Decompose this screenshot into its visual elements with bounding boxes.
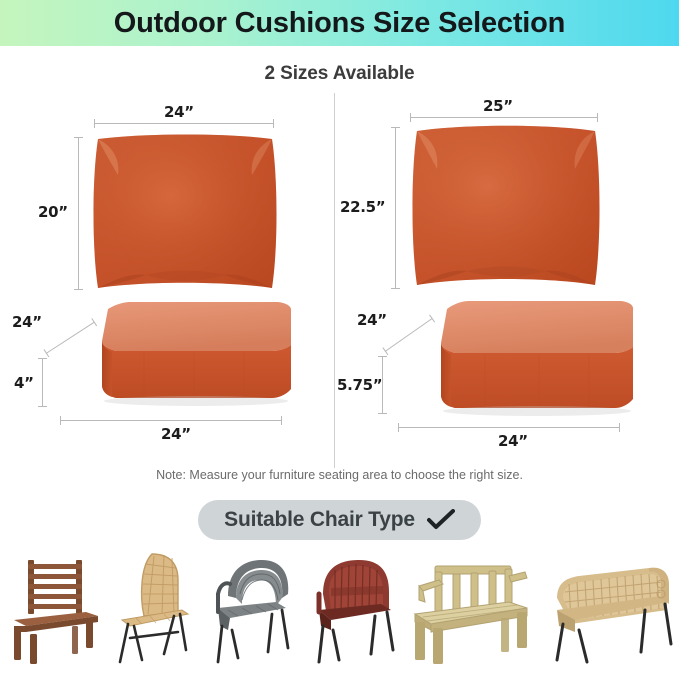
square-pillow-image-size-2 <box>403 121 608 293</box>
chair-maroon-woven-armchair <box>309 554 397 666</box>
seat-cushion-image-size-1 <box>46 297 296 412</box>
pillow-width-label: 24” <box>164 103 194 121</box>
pillow-width-dimension-line <box>410 117 598 118</box>
rattan-sofa-bench-icon <box>545 558 673 666</box>
suitable-chair-banner-wrap: Suitable Chair Type <box>0 500 679 540</box>
seat-width-label: 24” <box>161 425 191 443</box>
chair-wood-slat-lounge-chair <box>6 554 102 666</box>
pillow-width-label: 25” <box>483 97 513 115</box>
seat-width-dimension-line <box>60 420 282 421</box>
seat-cushion-icon <box>383 295 638 423</box>
chair-type-gallery <box>0 546 679 666</box>
chair-rattan-sofa-bench <box>545 558 673 666</box>
pillow-height-label: 22.5” <box>340 198 385 216</box>
square-pillow-image-size-1 <box>86 131 284 295</box>
seat-cushion-icon <box>46 297 296 412</box>
pillow-height-dimension-line <box>78 137 79 290</box>
seat-width-dimension-line <box>398 427 620 428</box>
chair-wood-garden-bench <box>409 556 533 666</box>
gray-rope-armchair-icon <box>210 554 296 666</box>
square-pillow-icon <box>403 121 608 293</box>
chair-rattan-dining-chair <box>114 550 198 666</box>
check-icon <box>427 509 455 531</box>
size-option-2[interactable]: 25” 22.5” <box>335 85 669 470</box>
suitable-chair-banner: Suitable Chair Type <box>198 500 481 540</box>
subtitle: 2 Sizes Available <box>0 63 679 85</box>
pillow-height-label: 20” <box>38 203 68 221</box>
seat-height-dimension-line <box>42 358 43 407</box>
pillow-width-dimension-line <box>94 123 274 124</box>
seat-height-label: 5.75” <box>337 376 382 394</box>
square-pillow-icon <box>86 131 284 295</box>
size-option-1[interactable]: 24” 20” <box>0 85 334 470</box>
size-options-area: 24” 20” <box>0 85 679 470</box>
chair-gray-rope-armchair <box>210 554 296 666</box>
wood-garden-bench-icon <box>409 556 533 666</box>
page-header: Outdoor Cushions Size Selection <box>0 0 679 46</box>
seat-cushion-image-size-2 <box>383 295 638 423</box>
wood-slat-lounge-chair-icon <box>6 554 102 666</box>
measure-note: Note: Measure your furniture seating are… <box>0 468 679 482</box>
maroon-woven-armchair-icon <box>309 554 397 666</box>
rattan-dining-chair-icon <box>114 550 198 666</box>
pillow-height-dimension-line <box>395 127 396 289</box>
suitable-chair-label: Suitable Chair Type <box>224 508 415 532</box>
seat-depth-label: 24” <box>12 313 42 331</box>
page-title: Outdoor Cushions Size Selection <box>114 7 565 40</box>
seat-width-label: 24” <box>498 432 528 450</box>
seat-height-label: 4” <box>14 374 34 392</box>
